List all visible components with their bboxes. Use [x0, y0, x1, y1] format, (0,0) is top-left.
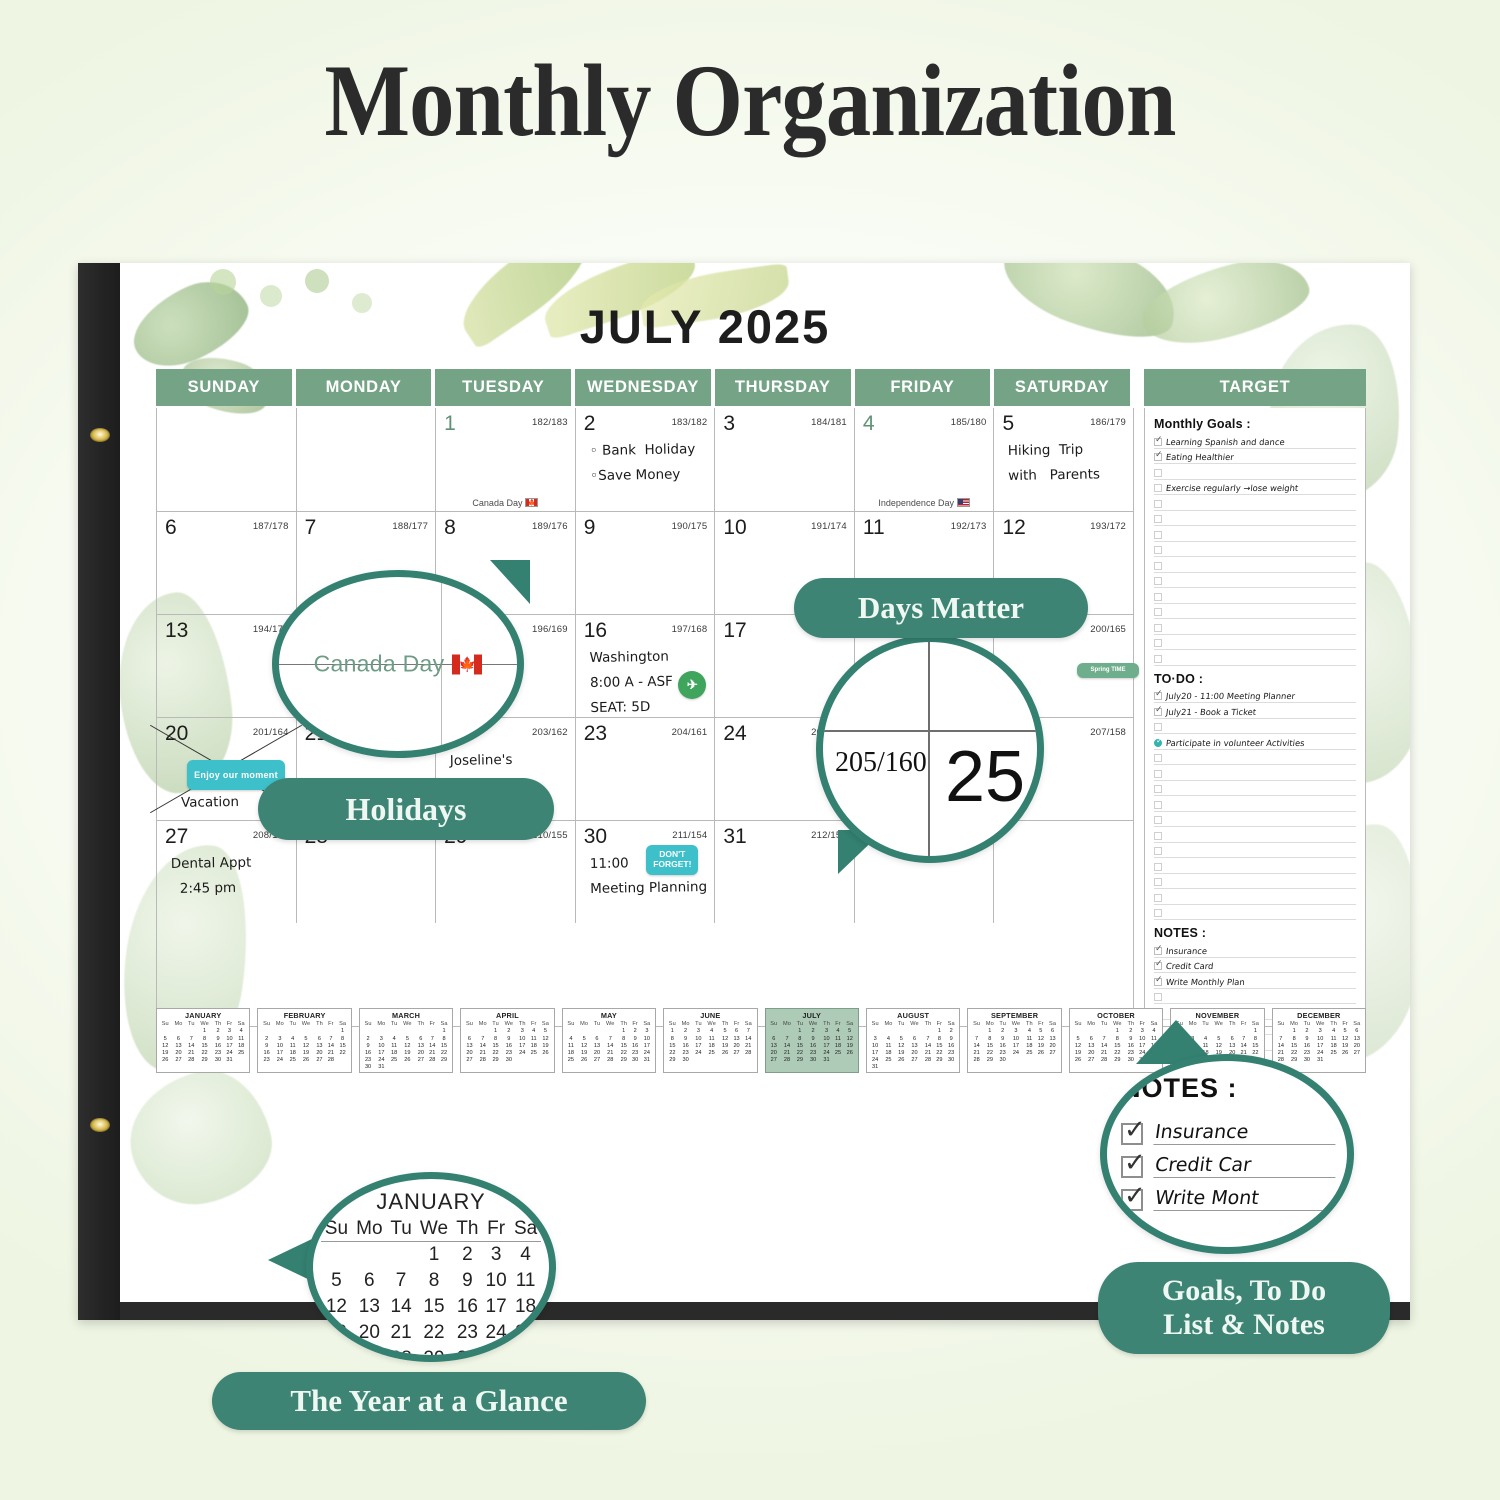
holiday-label: Independence Day	[855, 498, 994, 508]
foliage-leaf-icon	[120, 1060, 282, 1216]
day-of-year-counter: 203/162	[532, 727, 568, 738]
calendar-day-cell-3[interactable]: 3184/181	[715, 408, 855, 511]
day-header-tuesday: TUESDAY	[435, 369, 571, 406]
callout-label-year-glance: The Year at a Glance	[212, 1372, 646, 1430]
checkbox[interactable]	[1154, 962, 1162, 970]
magnified-note-row: Insurance	[1121, 1112, 1337, 1145]
magnified-day-count: 205/160	[835, 747, 927, 779]
goal-row[interactable]	[1154, 619, 1356, 635]
checkbox[interactable]	[1154, 453, 1162, 461]
checkbox[interactable]	[1154, 515, 1162, 523]
magnified-day: 28	[387, 1346, 415, 1362]
day-of-year-counter: 188/177	[392, 521, 428, 532]
holiday-label: Canada Day	[436, 498, 575, 508]
goal-row[interactable]: Exercise regularly →lose weight	[1154, 480, 1356, 496]
goal-row[interactable]	[1154, 464, 1356, 480]
magnified-day: 2	[453, 1242, 482, 1269]
mini-month-name: MARCH	[362, 1011, 450, 1020]
magnified-note-text: Credit Car	[1153, 1154, 1338, 1178]
magnifier-days-matter: 205/160 25	[816, 635, 1044, 863]
callout-goals-line2: List & Notes	[1163, 1308, 1325, 1342]
todo-row[interactable]	[1154, 858, 1356, 874]
checkbox[interactable]	[1154, 878, 1162, 886]
todo-row[interactable]	[1154, 874, 1356, 890]
mini-month-august[interactable]: AUGUSTSuMoTuWeThFrSa12345678910111213141…	[866, 1008, 960, 1073]
calendar-day-cell-9[interactable]: 9190/175	[576, 511, 716, 614]
mini-month-grid: SuMoTuWeThFrSa12345678910111213141516171…	[260, 1021, 348, 1064]
magnified-day	[387, 1242, 415, 1269]
todo-row[interactable]	[1154, 812, 1356, 828]
callout-label-goals-todo-notes: Goals, To Do List & Notes	[1098, 1262, 1390, 1354]
goal-row[interactable]	[1154, 495, 1356, 511]
foliage-sprig-icon	[305, 269, 329, 293]
calendar-day-cell-2[interactable]: 2183/182◦ Bank Holiday◦Save Money	[576, 408, 716, 511]
magnified-dow-fr: Fr	[482, 1217, 510, 1242]
mini-month-name: SEPTEMBER	[970, 1011, 1058, 1020]
magnified-note-text: Insurance	[1153, 1121, 1338, 1145]
day-of-year-counter: 200/165	[1090, 624, 1126, 635]
checkbox[interactable]	[1154, 655, 1162, 663]
checkbox[interactable]	[1154, 863, 1162, 871]
checkbox[interactable]	[1154, 531, 1162, 539]
day-of-year-counter: 187/178	[253, 521, 289, 532]
day-number: 9	[584, 516, 596, 540]
mini-month-grid: SuMoTuWeThFrSa12345678910111213141516171…	[565, 1021, 653, 1064]
goal-row[interactable]	[1154, 557, 1356, 573]
magnified-note-text: Write Mont	[1153, 1187, 1338, 1211]
day-header-sunday: SUNDAY	[156, 369, 292, 406]
day-number: 24	[723, 722, 746, 746]
magnified-note-row: Credit Car	[1121, 1145, 1337, 1178]
todo-row[interactable]	[1154, 905, 1356, 921]
magnified-day: 15	[415, 1294, 452, 1320]
magnified-day: 4	[510, 1242, 541, 1269]
magnified-dow-su: Su	[321, 1217, 352, 1242]
handwritten-note: ◦ Bank Holiday◦Save Money	[589, 437, 706, 489]
magnifier-holidays: Canada Day	[272, 570, 524, 758]
day-of-week-header-row: SUNDAYMONDAYTUESDAYWEDNESDAYTHURSDAYFRID…	[156, 369, 1366, 406]
todo-row[interactable]	[1154, 781, 1356, 797]
day-number: 13	[165, 619, 188, 643]
day-of-year-counter: 211/154	[672, 830, 707, 841]
magnified-day: 10	[482, 1268, 510, 1294]
day-number: 30	[584, 825, 607, 849]
mini-month-april[interactable]: APRILSuMoTuWeThFrSa123456789101112131415…	[460, 1008, 554, 1073]
day-header-friday: FRIDAY	[855, 369, 991, 406]
mini-month-name: DECEMBER	[1275, 1011, 1363, 1020]
magnified-checkbox	[1121, 1189, 1143, 1211]
checkbox[interactable]	[1154, 801, 1162, 809]
day-of-year-counter: 189/176	[532, 521, 568, 532]
day-number: 31	[723, 825, 746, 849]
note-text: Write Monthly Plan	[1165, 977, 1245, 987]
day-number: 6	[165, 516, 177, 540]
day-number: 1	[444, 412, 456, 436]
magnified-day: 14	[387, 1294, 415, 1320]
todo-row[interactable]: July20 - 11:00 Meeting Planner	[1154, 688, 1356, 704]
checkbox[interactable]	[1154, 832, 1162, 840]
todo-text: July20 - 11:00 Meeting Planner	[1165, 691, 1295, 701]
todo-row[interactable]	[1154, 719, 1356, 735]
checkbox[interactable]	[1154, 770, 1162, 778]
mini-month-grid: SuMoTuWeThFrSa12345678910111213141516171…	[768, 1021, 856, 1064]
magnified-note-row-empty	[1121, 1211, 1337, 1244]
magnified-day: 24	[482, 1320, 510, 1346]
magnifier-notes: NOTES : InsuranceCredit CarWrite Mont	[1100, 1054, 1354, 1254]
magnified-day	[352, 1242, 387, 1269]
canada-flag-icon	[452, 655, 482, 675]
magnified-day: 27	[352, 1346, 387, 1362]
checkbox[interactable]	[1154, 909, 1162, 917]
magnified-day: 21	[387, 1320, 415, 1346]
goal-row[interactable]	[1154, 542, 1356, 558]
checkbox[interactable]	[1154, 847, 1162, 855]
day-of-year-counter: 184/181	[811, 417, 847, 428]
magnified-day: 29	[415, 1346, 452, 1362]
todo-text: Participate in volunteer Activities	[1165, 738, 1305, 748]
day-number: 16	[584, 619, 607, 643]
magnified-checkbox-empty	[1121, 1222, 1143, 1244]
goal-row[interactable]	[1154, 588, 1356, 604]
mini-month-name: JULY	[768, 1011, 856, 1020]
page-title: Monthly Organization	[90, 42, 1410, 160]
day-of-year-counter: 186/179	[1090, 417, 1126, 428]
todo-heading: TO·DO :	[1154, 672, 1356, 686]
magnified-day: 26	[321, 1346, 352, 1362]
magnified-day: 18	[510, 1294, 541, 1320]
note-row[interactable]: Insurance	[1154, 942, 1356, 958]
monthly-goals-lines[interactable]: Learning Spanish and danceEating Healthi…	[1154, 433, 1356, 666]
calendar-day-cell-1[interactable]: 1182/183Canada Day	[436, 408, 576, 511]
callout-label-days-matter: Days Matter	[794, 578, 1088, 638]
todo-row[interactable]	[1154, 843, 1356, 859]
calendar-day-cell-empty[interactable]	[297, 408, 437, 511]
checkbox[interactable]	[1154, 978, 1162, 986]
day-of-year-counter: 192/173	[951, 521, 987, 532]
mini-month-grid: SuMoTuWeThFrSa12345678910111213141516171…	[666, 1021, 754, 1064]
mini-month-grid: SuMoTuWeThFrSa12345678910111213141516171…	[463, 1021, 551, 1064]
mini-month-grid: SuMoTuWeThFrSa12345678910111213141516171…	[362, 1021, 450, 1071]
checkbox[interactable]	[1154, 438, 1162, 446]
magnified-day: 20	[352, 1320, 387, 1346]
goal-row[interactable]	[1154, 635, 1356, 651]
magnified-day: 13	[352, 1294, 387, 1320]
day-number: 10	[723, 516, 746, 540]
canada-flag-icon	[525, 498, 538, 507]
calendar-day-cell-23[interactable]: 23204/161	[576, 717, 716, 820]
day-number: 3	[723, 412, 735, 436]
todo-text: July21 - Book a Ticket	[1165, 707, 1256, 717]
calendar-day-cell-30[interactable]: 30211/15411:00Meeting PlanningDON'T FORG…	[576, 820, 716, 923]
checkbox[interactable]	[1154, 993, 1162, 1001]
day-of-year-counter: 196/169	[532, 624, 568, 635]
magnified-day: 17	[482, 1294, 510, 1320]
day-of-year-counter: 207/158	[1090, 727, 1126, 738]
mini-month-name: JUNE	[666, 1011, 754, 1020]
magnified-checkbox	[1121, 1156, 1143, 1178]
mini-month-name: MAY	[565, 1011, 653, 1020]
magnified-notes-heading: NOTES :	[1121, 1073, 1337, 1104]
day-of-year-counter: 191/174	[811, 521, 847, 532]
mini-month-july[interactable]: JULYSuMoTuWeThFrSa1234567891011121314151…	[765, 1008, 859, 1073]
checkbox[interactable]	[1154, 723, 1162, 731]
checkbox[interactable]	[1154, 562, 1162, 570]
note-row[interactable]: Credit Card	[1154, 958, 1356, 974]
todo-row[interactable]: Participate in volunteer Activities	[1154, 734, 1356, 750]
day-header-monday: MONDAY	[296, 369, 432, 406]
magnified-dow-tu: Tu	[387, 1217, 415, 1242]
checkbox[interactable]	[1154, 785, 1162, 793]
checkbox[interactable]	[1154, 692, 1162, 700]
goal-row[interactable]	[1154, 650, 1356, 666]
goal-row[interactable]	[1154, 511, 1356, 527]
magnified-day	[321, 1242, 352, 1269]
mini-month-name: OCTOBER	[1072, 1011, 1160, 1020]
day-of-year-counter: 197/168	[672, 624, 708, 635]
mini-month-name: APRIL	[463, 1011, 551, 1020]
checkbox[interactable]	[1154, 894, 1162, 902]
monthly-goals-heading: Monthly Goals :	[1154, 417, 1356, 431]
goal-text: Exercise regularly →lose weight	[1165, 483, 1298, 493]
mini-month-september[interactable]: SEPTEMBERSuMoTuWeThFrSa12345678910111213…	[967, 1008, 1061, 1073]
magnified-dow-mo: Mo	[352, 1217, 387, 1242]
magnified-dow-we: We	[415, 1217, 452, 1242]
magnified-week-row: 19202122232425	[321, 1320, 541, 1346]
day-of-year-counter: 190/175	[672, 521, 708, 532]
magnified-day: 19	[321, 1320, 352, 1346]
checkbox[interactable]	[1154, 754, 1162, 762]
calendar-day-cell-6[interactable]: 6187/178	[157, 511, 297, 614]
usa-flag-icon	[957, 498, 970, 507]
magnified-day: 9	[453, 1268, 482, 1294]
day-number: 12	[1002, 516, 1025, 540]
magnified-day: 7	[387, 1268, 415, 1294]
day-number: 5	[1002, 412, 1014, 436]
goal-row[interactable]	[1154, 573, 1356, 589]
sticker-dont: DON'T FORGET!	[646, 845, 698, 875]
checkbox[interactable]	[1154, 469, 1162, 477]
day-header-saturday: SATURDAY	[994, 369, 1130, 406]
magnified-note-row: Write Mont	[1121, 1178, 1337, 1211]
mini-month-may[interactable]: MAYSuMoTuWeThFrSa12345678910111213141516…	[562, 1008, 656, 1073]
todo-row[interactable]	[1154, 750, 1356, 766]
notes-heading: NOTES :	[1154, 926, 1356, 940]
magnified-week-row: 567891011	[321, 1268, 541, 1294]
foliage-sprig-icon	[210, 269, 236, 295]
calendar-day-cell-4[interactable]: 4185/180Independence Day	[855, 408, 995, 511]
magnified-day: 6	[352, 1268, 387, 1294]
day-of-year-counter: 183/182	[672, 417, 708, 428]
day-of-year-counter: 182/183	[532, 417, 568, 428]
day-number: 17	[723, 619, 746, 643]
mini-month-grid: SuMoTuWeThFrSa12345678910111213141516171…	[1275, 1021, 1363, 1064]
magnified-dow-th: Th	[453, 1217, 482, 1242]
magnified-day: 8	[415, 1268, 452, 1294]
day-number: 7	[305, 516, 317, 540]
day-number: 8	[444, 516, 456, 540]
note-text: Credit Card	[1165, 961, 1214, 971]
day-number: 2	[584, 412, 596, 436]
magnified-day: 1	[415, 1242, 452, 1269]
todo-row[interactable]	[1154, 796, 1356, 812]
mini-month-june[interactable]: JUNESuMoTuWeThFrSa1234567891011121314151…	[663, 1008, 757, 1073]
magnified-day-number: 25	[945, 736, 1025, 818]
month-title: JULY 2025	[120, 299, 1290, 354]
mini-month-march[interactable]: MARCHSuMoTuWeThFrSa123456789101112131415…	[359, 1008, 453, 1073]
checkbox[interactable]	[1154, 484, 1162, 492]
goal-row[interactable]	[1154, 604, 1356, 620]
mini-month-grid: SuMoTuWeThFrSa12345678910111213141516171…	[159, 1021, 247, 1064]
magnified-day: 3	[482, 1242, 510, 1269]
mini-month-february[interactable]: FEBRUARYSuMoTuWeThFrSa123456789101112131…	[257, 1008, 351, 1073]
goal-row[interactable]: Eating Healthier	[1154, 449, 1356, 465]
mini-month-january[interactable]: JANUARYSuMoTuWeThFrSa1234567891011121314…	[156, 1008, 250, 1073]
checkbox[interactable]	[1154, 593, 1162, 601]
magnified-checkbox	[1121, 1123, 1143, 1145]
magnified-day: 23	[453, 1320, 482, 1346]
day-number: 23	[584, 722, 607, 746]
mini-month-grid: SuMoTuWeThFrSa12345678910111213141516171…	[970, 1021, 1058, 1064]
goal-text: Eating Healthier	[1165, 452, 1234, 462]
magnifier-year-glance: JANUARY SuMoTuWeThFrSa123456789101112131…	[306, 1172, 556, 1362]
todo-row[interactable]: July21 - Book a Ticket	[1154, 703, 1356, 719]
todo-lines[interactable]: July20 - 11:00 Meeting PlannerJuly21 - B…	[1154, 688, 1356, 921]
day-number: 11	[863, 516, 885, 540]
mini-month-name: AUGUST	[869, 1011, 957, 1020]
checkbox[interactable]	[1154, 708, 1162, 716]
goal-text: Learning Spanish and dance	[1165, 437, 1285, 447]
magnified-day: 5	[321, 1268, 352, 1294]
binding-spine	[78, 263, 120, 1320]
mini-month-grid: SuMoTuWeThFrSa12345678910111213141516171…	[869, 1021, 957, 1071]
mini-month-name: FEBRUARY	[260, 1011, 348, 1020]
goal-row[interactable]	[1154, 526, 1356, 542]
checkbox[interactable]	[1154, 577, 1162, 585]
checkbox[interactable]	[1154, 500, 1162, 508]
magnified-day	[510, 1346, 541, 1362]
magnified-day: 31	[482, 1346, 510, 1362]
callout-goals-line1: Goals, To Do	[1162, 1274, 1326, 1308]
todo-row[interactable]	[1154, 827, 1356, 843]
target-panel: Monthly Goals : Learning Spanish and dan…	[1144, 408, 1366, 1027]
calendar-day-cell-16[interactable]: 16197/168Washington8:00 A - ASFSEAT: 5D✈	[576, 614, 716, 717]
note-row[interactable]: Write Monthly Plan	[1154, 973, 1356, 989]
magnified-day: 30	[453, 1346, 482, 1362]
magnified-dow-sa: Sa	[510, 1217, 541, 1242]
sticker-spring: Spring TIME	[1077, 663, 1139, 678]
target-column-header: TARGET	[1144, 369, 1366, 406]
checkbox[interactable]	[1154, 608, 1162, 616]
magnified-mini-calendar: SuMoTuWeThFrSa12345678910111213141516171…	[321, 1217, 541, 1362]
calendar-day-cell-5[interactable]: 5186/179Hiking Tripwith Parents	[994, 408, 1133, 511]
checkbox[interactable]	[1154, 947, 1162, 955]
day-of-year-counter: 204/161	[672, 727, 708, 738]
magnified-week-row: 1234	[321, 1242, 541, 1269]
goal-row[interactable]: Learning Spanish and dance	[1154, 433, 1356, 449]
day-number: 27	[165, 825, 188, 849]
todo-row[interactable]	[1154, 889, 1356, 905]
mini-month-name: JANUARY	[159, 1011, 247, 1020]
magnified-day: 12	[321, 1294, 352, 1320]
day-of-year-counter: 185/180	[951, 417, 987, 428]
grommet-bottom-icon	[90, 1118, 110, 1132]
magnified-week-row: 262728293031	[321, 1346, 541, 1362]
note-text: Insurance	[1165, 946, 1207, 956]
magnified-week-row: 12131415161718	[321, 1294, 541, 1320]
day-header-thursday: THURSDAY	[715, 369, 851, 406]
mini-month-name: NOVEMBER	[1173, 1011, 1261, 1020]
checkbox[interactable]	[1154, 739, 1162, 747]
checkbox[interactable]	[1154, 816, 1162, 824]
day-number: 4	[863, 412, 875, 436]
magnified-day: 25	[510, 1320, 541, 1346]
magnified-day: 22	[415, 1320, 452, 1346]
magnified-day: 11	[510, 1268, 541, 1294]
day-header-wednesday: WEDNESDAY	[575, 369, 711, 406]
callout-label-holidays: Holidays	[258, 778, 554, 840]
handwritten-note: Dental Appt 2:45 pm	[171, 850, 288, 902]
todo-row[interactable]	[1154, 765, 1356, 781]
magnified-day: 16	[453, 1294, 482, 1320]
handwritten-note: Hiking Tripwith Parents	[1008, 437, 1125, 489]
calendar-day-cell-empty[interactable]	[157, 408, 297, 511]
magnified-canada-day-label: Canada Day	[314, 651, 445, 677]
checkbox[interactable]	[1154, 639, 1162, 647]
day-of-year-counter: 193/172	[1090, 521, 1126, 532]
magnified-month-name: JANUARY	[321, 1189, 541, 1215]
checkbox[interactable]	[1154, 546, 1162, 554]
calendar-week-row: 1182/183Canada Day2183/182◦ Bank Holiday…	[157, 408, 1133, 511]
grommet-top-icon	[90, 428, 110, 442]
note-row[interactable]	[1154, 989, 1356, 1005]
checkbox[interactable]	[1154, 624, 1162, 632]
